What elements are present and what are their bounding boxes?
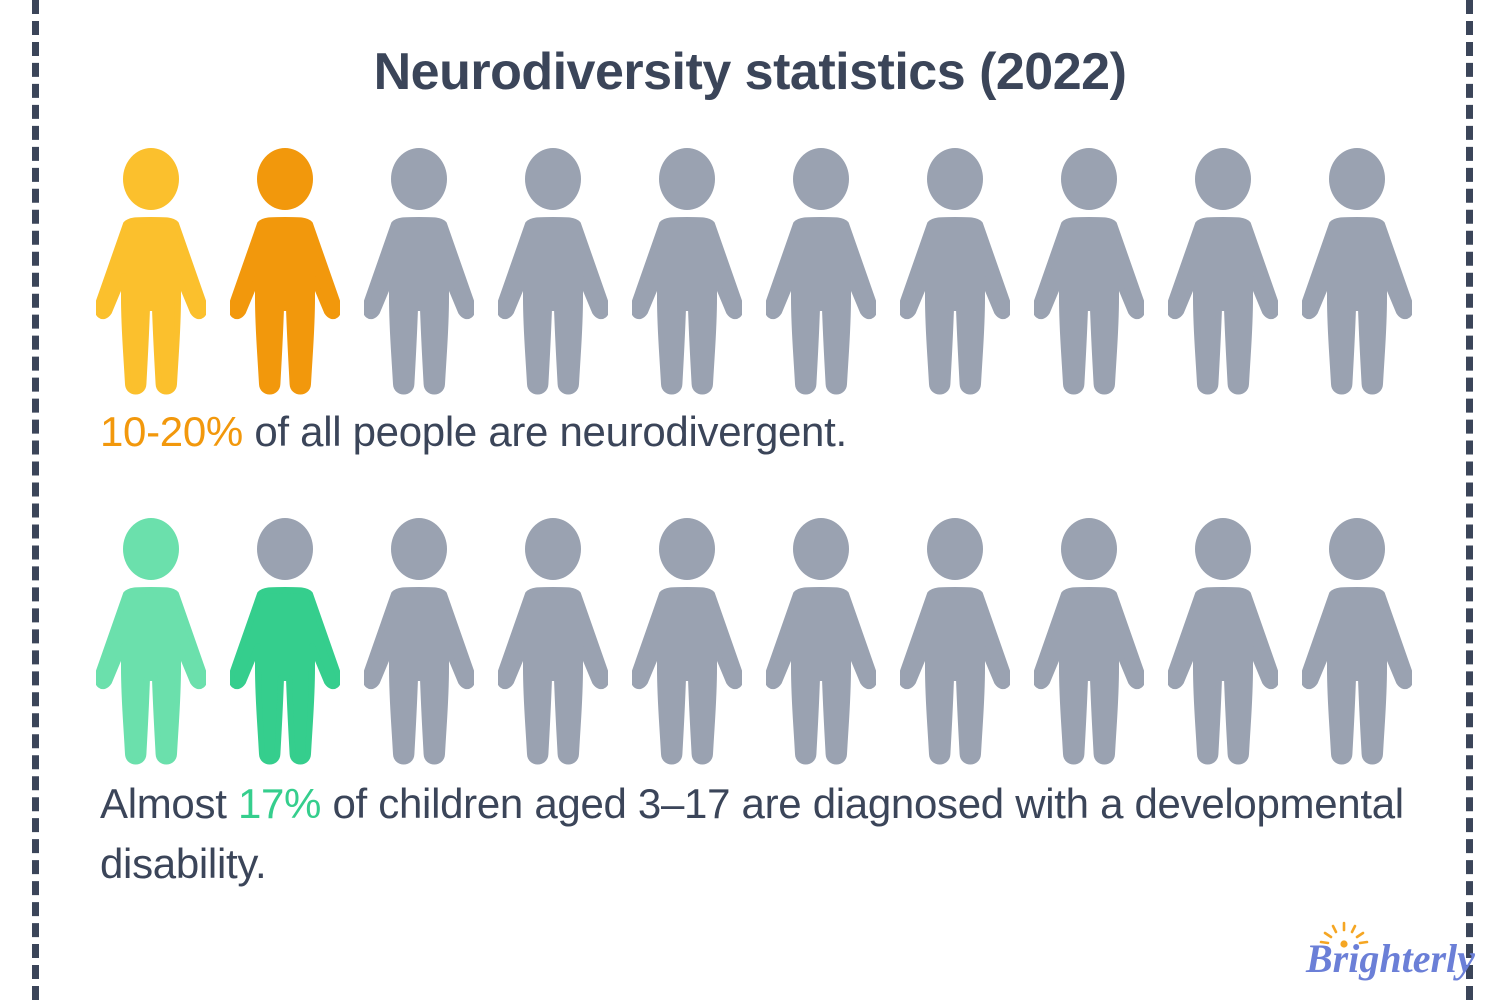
pictogram-row-developmental-disability <box>96 518 1412 766</box>
person-head <box>257 518 313 580</box>
person-icon <box>1302 518 1412 766</box>
person-icon <box>766 148 876 396</box>
person-head <box>123 148 179 210</box>
person-body <box>633 590 740 762</box>
caption-1-highlight: 10-20% <box>100 408 243 455</box>
caption-neurodivergent: 10-20% of all people are neurodivergent. <box>100 408 847 456</box>
caption-2-highlight: 17% <box>238 780 321 827</box>
person-head <box>793 518 849 580</box>
person-body <box>767 220 874 392</box>
person-icon <box>96 148 206 396</box>
person-icon <box>632 518 742 766</box>
person-head <box>391 518 447 580</box>
person-body <box>365 590 472 762</box>
person-body <box>97 220 204 392</box>
person-head <box>927 518 983 580</box>
person-head <box>123 518 179 580</box>
caption-1-rest: of all people are neurodivergent. <box>243 408 847 455</box>
person-body <box>901 220 1008 392</box>
person-icon <box>96 518 206 766</box>
person-body <box>901 590 1008 762</box>
person-body <box>767 590 874 762</box>
person-icon <box>1302 148 1412 396</box>
person-head <box>1195 518 1251 580</box>
person-body <box>1303 590 1410 762</box>
page-title: Neurodiversity statistics (2022) <box>0 42 1500 102</box>
person-icon <box>364 148 474 396</box>
brighterly-logo-text: Brighterly <box>1305 936 1475 981</box>
person-head <box>1061 518 1117 580</box>
person-icon <box>900 148 1010 396</box>
person-body <box>633 220 740 392</box>
person-icon <box>900 518 1010 766</box>
person-head <box>525 148 581 210</box>
person-head <box>1195 148 1251 210</box>
person-icon <box>364 518 474 766</box>
person-head <box>1329 518 1385 580</box>
dashed-border-right <box>1466 0 1473 1000</box>
person-icon <box>1034 148 1144 396</box>
person-head <box>659 518 715 580</box>
person-head <box>793 148 849 210</box>
caption-2-prefix: Almost <box>100 780 238 827</box>
person-icon <box>632 148 742 396</box>
person-icon <box>1034 518 1144 766</box>
person-body <box>1035 220 1142 392</box>
person-icon <box>498 518 608 766</box>
person-head <box>659 148 715 210</box>
person-body <box>97 590 204 762</box>
person-head <box>1061 148 1117 210</box>
brighterly-logo[interactable]: Brighterly <box>1304 920 1476 984</box>
person-body <box>1035 590 1142 762</box>
person-head <box>257 148 313 210</box>
person-body <box>499 220 606 392</box>
person-body <box>365 220 472 392</box>
infographic-canvas: Neurodiversity statistics (2022) 10-20% … <box>0 0 1500 1000</box>
pictogram-row-neurodivergent <box>96 148 1412 396</box>
person-icon <box>1168 518 1278 766</box>
person-head <box>1329 148 1385 210</box>
person-body <box>231 590 338 762</box>
person-body <box>499 590 606 762</box>
person-body <box>231 220 338 392</box>
person-head <box>927 148 983 210</box>
person-icon <box>766 518 876 766</box>
brighterly-logo-mark: Brighterly <box>1304 920 1476 984</box>
person-icon <box>230 518 340 766</box>
person-icon <box>1168 148 1278 396</box>
person-body <box>1169 220 1276 392</box>
dashed-border-left <box>32 0 39 1000</box>
person-icon <box>230 148 340 396</box>
person-head <box>525 518 581 580</box>
person-body <box>1169 590 1276 762</box>
person-body <box>1303 220 1410 392</box>
caption-developmental-disability: Almost 17% of children aged 3–17 are dia… <box>100 774 1420 893</box>
person-head <box>391 148 447 210</box>
person-icon <box>498 148 608 396</box>
